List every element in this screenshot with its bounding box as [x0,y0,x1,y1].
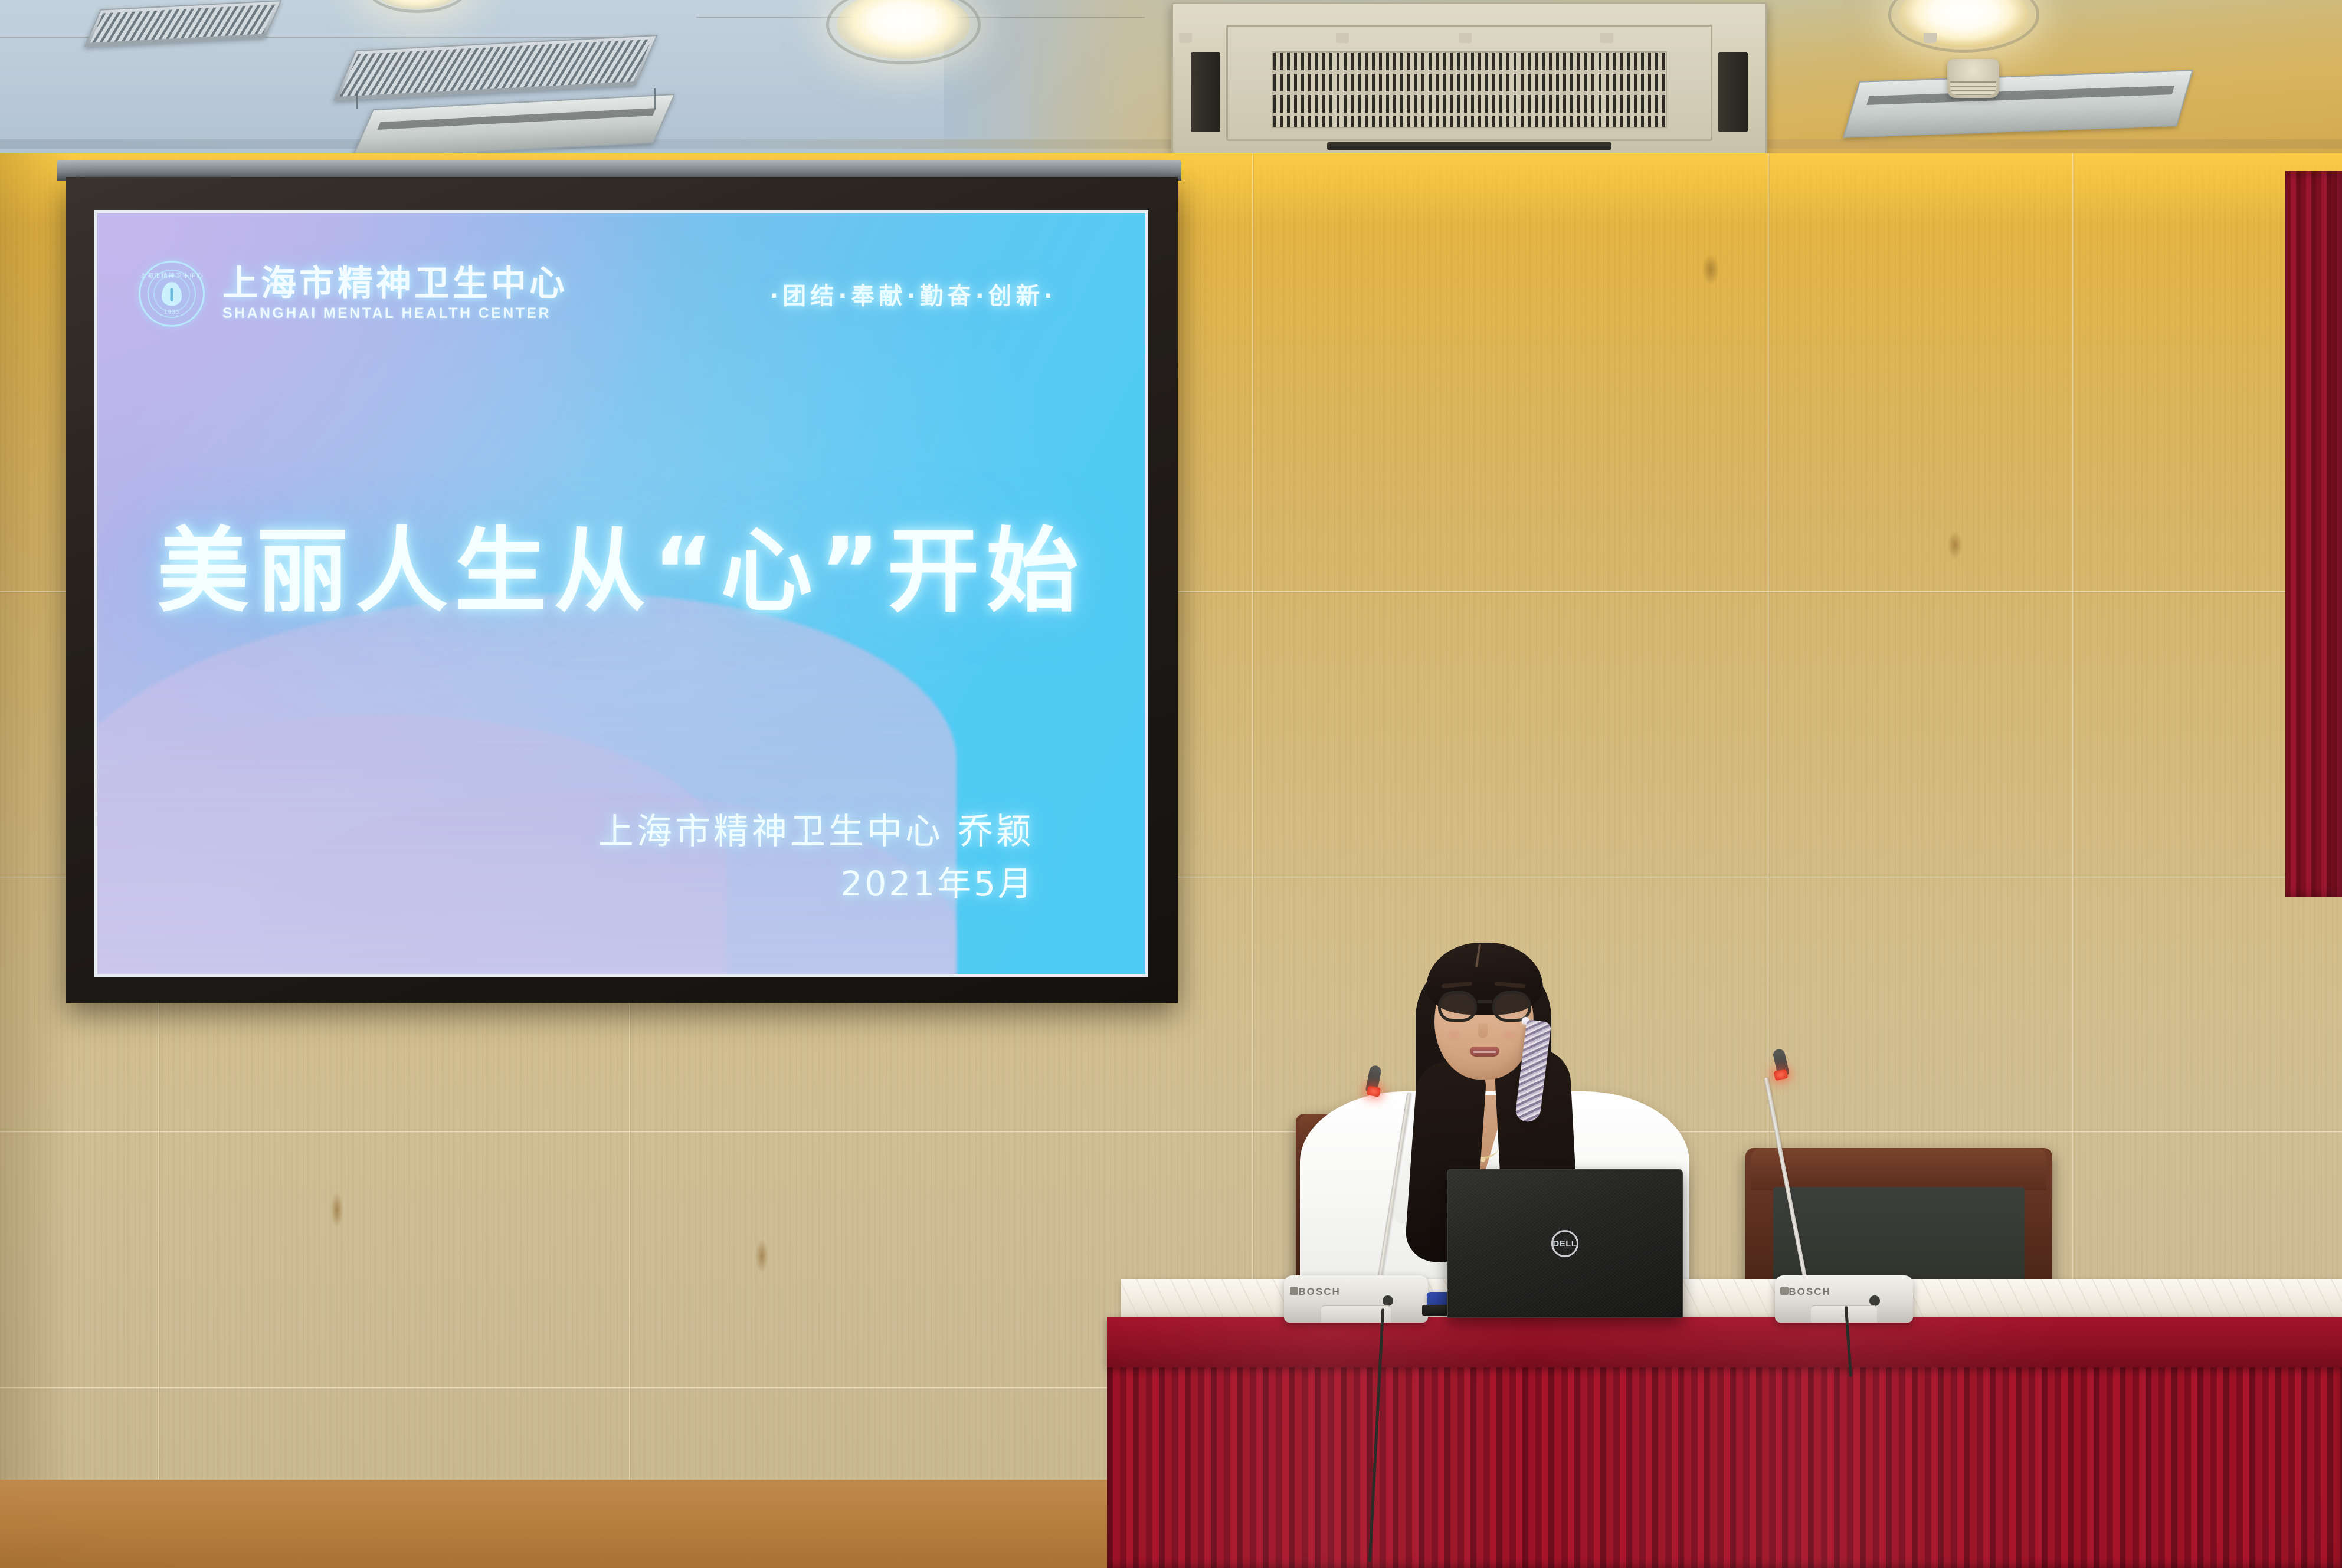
vent-hanger [654,88,656,109]
presenter-mouth [1470,1047,1499,1057]
air-conditioner-unit [1171,2,1767,155]
organization-name-block: 上海市精神卫生中心 SHANGHAI MENTAL HEALTH CENTER [222,265,568,322]
laptop[interactable]: DELL [1447,1169,1683,1318]
cloth-clip [1336,33,1349,43]
microphone-base-left[interactable]: BOSCH [1284,1275,1428,1323]
logo-top-text: 上海市精神卫生中心 [140,271,204,280]
projection-screen: 上海市精神卫生中心 1935 上海市精神卫生中心 SHANGHAI MENTAL… [66,177,1178,1003]
organization-name-en: SHANGHAI MENTAL HEALTH CENTER [222,305,568,322]
cloth-clip [1179,33,1192,43]
microphone-brand-label-left: BOSCH [1298,1286,1340,1298]
dell-logo-icon: DELL [1551,1230,1578,1257]
ceiling-downlight [837,0,970,59]
lecture-hall-scene: 上海市精神卫生中心 1935 上海市精神卫生中心 SHANGHAI MENTAL… [0,0,2342,1568]
slide-presenter-line: 上海市精神卫生中心 乔颖 [598,803,1034,854]
eyeglasses-icon [1438,991,1531,1023]
logo-year-text: 1935 [164,309,179,316]
floor [0,1480,1133,1568]
presenter-nose [1478,1023,1488,1038]
wall-panel-seam [0,1131,2342,1133]
smoke-detector-icon [1947,59,1999,98]
cloth-clip [1459,33,1472,43]
table-skirt [1107,1317,2342,1568]
cloth-clip [1924,33,1937,43]
laptop-brand-label: DELL [1552,1239,1577,1249]
slide-decorative-wave [97,593,957,974]
screen-inner-border: 上海市精神卫生中心 1935 上海市精神卫生中心 SHANGHAI MENTAL… [94,210,1148,977]
cloth-clip [1600,33,1613,43]
microphone-brand-label-right: BOSCH [1789,1286,1830,1298]
organization-name-cn: 上海市精神卫生中心 [222,265,568,303]
organization-logo-icon: 上海市精神卫生中心 1935 [139,261,205,327]
presentation-slide: 上海市精神卫生中心 1935 上海市精神卫生中心 SHANGHAI MENTAL… [97,213,1145,974]
organization-slogan: ·团结·奉献·勤奋·创新· [769,277,1057,311]
microphone-base-right[interactable]: BOSCH [1775,1275,1913,1323]
slide-title: 美丽人生从“心”开始 [97,496,1145,629]
window-curtain [2285,171,2342,897]
ceiling-downlight [1899,0,2029,47]
vent-hanger [356,91,358,109]
slide-date-line: 2021年5月 [840,856,1034,906]
